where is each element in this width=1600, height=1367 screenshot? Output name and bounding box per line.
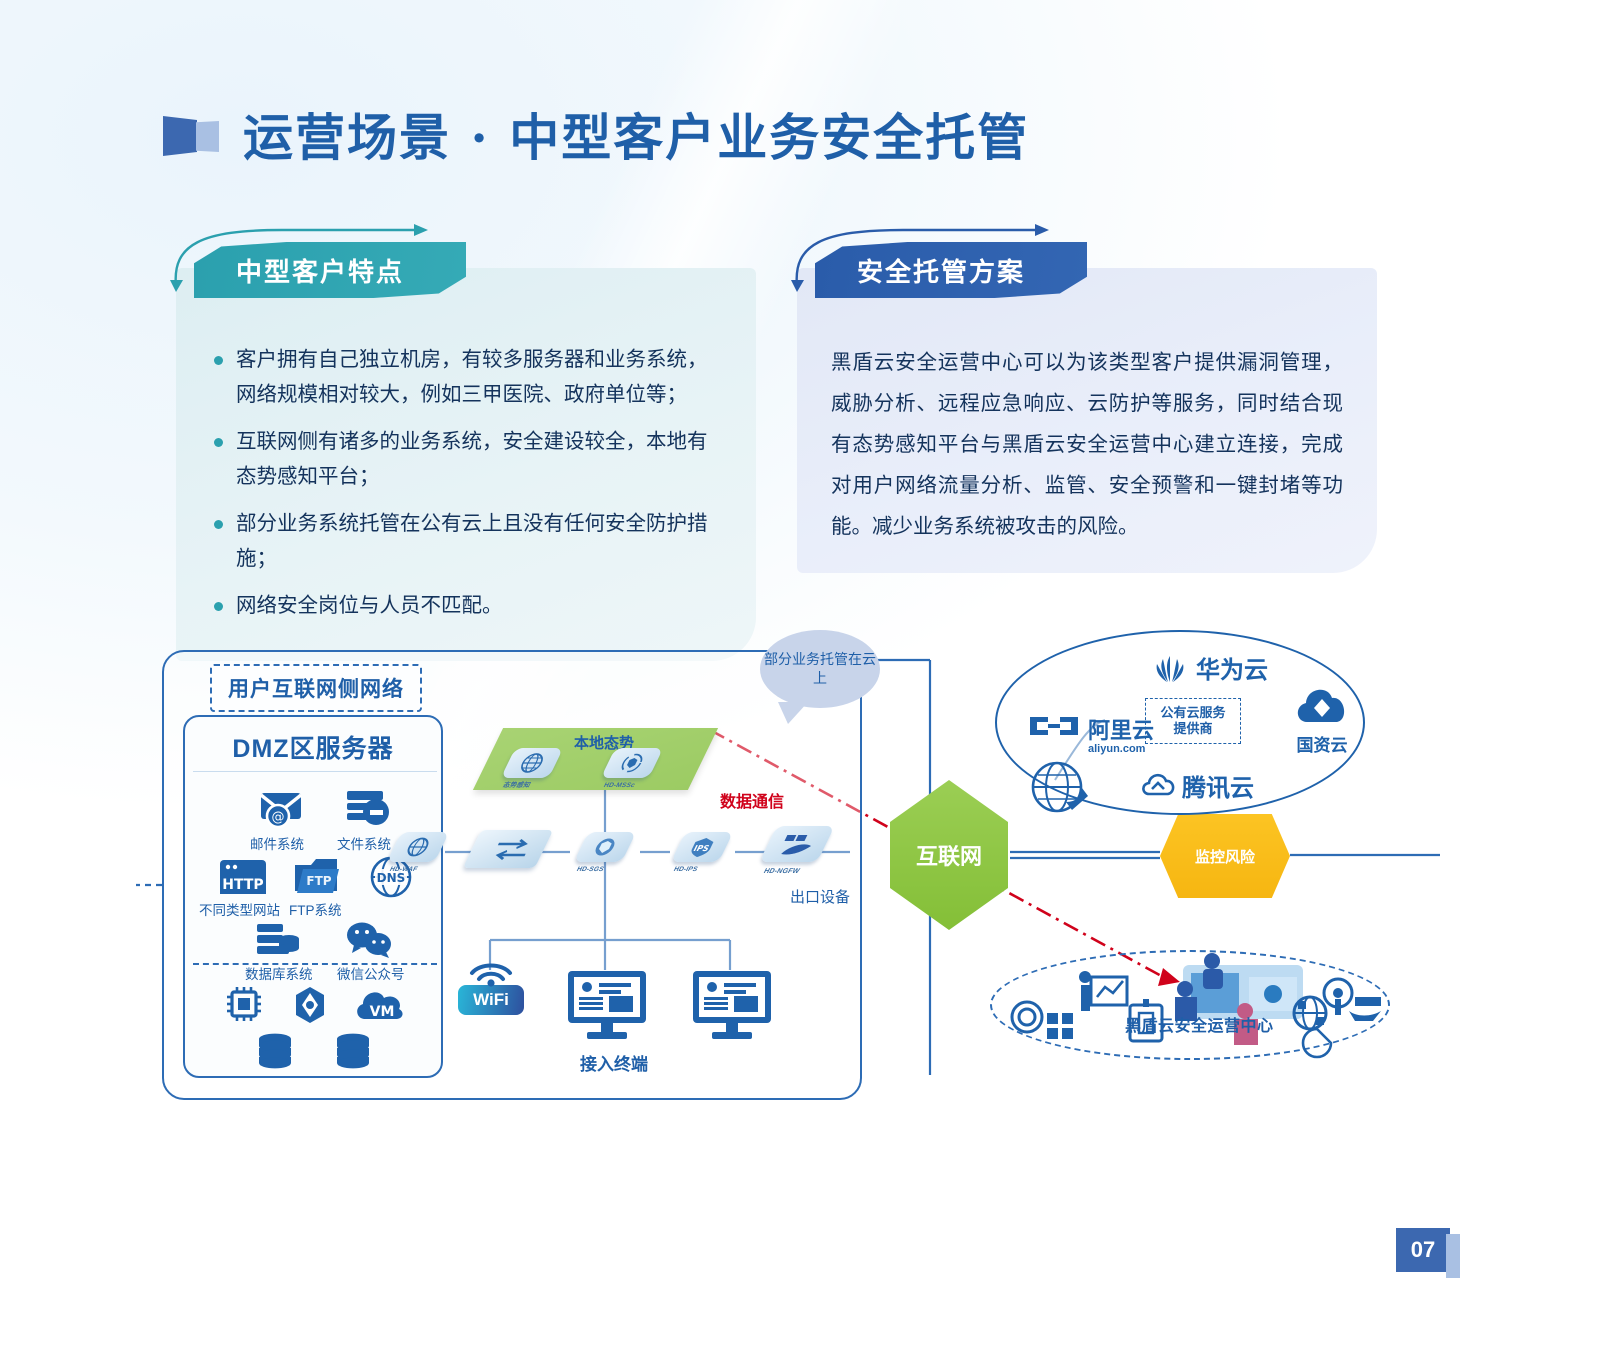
svg-text:DNS: DNS xyxy=(377,871,406,885)
flag-icon xyxy=(163,112,219,156)
tencent-cloud-icon xyxy=(1140,772,1176,800)
list-item: 互联网侧有诸多的业务系统，安全建设较全，本地有态势感知平台； xyxy=(210,424,722,494)
solution-paragraph: 黑盾云安全运营中心可以为该类型客户提供漏洞管理，威胁分析、远程应急响应、云防护等… xyxy=(831,342,1343,547)
vm-cloud-icon: VM xyxy=(353,985,407,1025)
wifi-label: WiFi xyxy=(473,990,509,1010)
ips-icon: IPS xyxy=(684,836,721,858)
globe-arrow-icon xyxy=(1028,758,1090,820)
guoziyun-cloud-icon xyxy=(1292,682,1352,728)
cloud-tag-line1: 公有云服务 xyxy=(1160,705,1225,721)
exit-device-label: 出口设备 xyxy=(790,886,850,907)
mail-icon: @ xyxy=(257,789,305,829)
provider-guoziyun: 国资云 xyxy=(1292,682,1352,756)
ftp-folder-icon: FTP xyxy=(291,855,343,897)
caption-wechat: 微信公众号 xyxy=(337,963,405,983)
page-title: 运营场景 · 中型客户业务安全托管 xyxy=(243,98,1029,170)
wechat-icon xyxy=(345,920,393,958)
caption-file: 文件系统 xyxy=(337,833,391,853)
device-hd-ips[interactable]: IPS HD-IPS xyxy=(672,832,732,872)
page-number-badge: 07 xyxy=(1396,1228,1450,1272)
db-stack-icon xyxy=(333,1033,373,1069)
http-icon: HTTP xyxy=(217,857,269,897)
firewall-icon xyxy=(774,832,820,856)
desktop-monitor-icon xyxy=(565,968,649,1042)
managed-security-panel: 安全托管方案 黑盾云安全运营中心可以为该类型客户提供漏洞管理，威胁分析、远程应急… xyxy=(797,268,1377,573)
device-label: HD-MSSc xyxy=(602,782,636,789)
cluster-icon xyxy=(290,985,330,1025)
device-hd-sgs[interactable]: HD-SGS xyxy=(575,832,635,872)
device-label: HD-IPS xyxy=(672,866,699,873)
soc-scene xyxy=(1005,955,1375,1060)
public-cloud-tag: 公有云服务 提供商 xyxy=(1145,698,1241,744)
wifi-badge: WiFi xyxy=(458,985,524,1015)
cloud-hosting-bubble: 部分业务托管在云上 xyxy=(760,630,880,708)
monitor-risk-hexagon: 监控风险 xyxy=(1160,814,1290,898)
svg-text:IPS: IPS xyxy=(692,843,711,852)
switch-arrows-icon xyxy=(486,837,538,861)
svg-text:@: @ xyxy=(272,810,285,825)
device-hd-waf[interactable]: HD-WAF xyxy=(388,832,448,872)
cpu-chip-icon xyxy=(223,983,265,1025)
customer-traits-panel: 中型客户特点 客户拥有自己独立机房，有较多服务器和业务系统，网络规模相对较大，例… xyxy=(176,268,756,661)
db-stack-icon xyxy=(255,1033,295,1069)
device-label: 态势感知 xyxy=(502,779,534,789)
core-switch[interactable] xyxy=(472,826,550,874)
cloud-tag-line2: 提供商 xyxy=(1160,721,1225,737)
device-hd-ngfw[interactable]: HD-NGFW xyxy=(762,826,838,874)
brain-globe-icon xyxy=(514,752,551,774)
caption-db: 数据库系统 xyxy=(245,963,313,983)
device-hd-mssc[interactable]: HD-MSSc xyxy=(602,748,662,788)
panel-body-left: 客户拥有自己独立机房，有较多服务器和业务系统，网络规模相对较大，例如三甲医院、政… xyxy=(176,268,756,661)
dmz-title: DMZ区服务器 xyxy=(185,729,441,765)
page-header: 运营场景 · 中型客户业务安全托管 xyxy=(163,98,1029,170)
provider-name: 华为云 xyxy=(1196,650,1268,685)
device-label: HD-SGS xyxy=(575,866,605,873)
shield-cycle-icon xyxy=(615,752,650,774)
huawei-cloud-icon xyxy=(1150,652,1190,684)
device-label: HD-NGFW xyxy=(762,868,801,875)
list-item: 部分业务系统托管在公有云上且没有任何安全防护措施； xyxy=(210,506,722,576)
terminal-caption: 接入终端 xyxy=(580,1050,648,1075)
provider-huawei: 华为云 xyxy=(1150,650,1268,685)
desktop-monitor-icon xyxy=(690,968,774,1042)
caption-http: 不同类型网站 xyxy=(199,899,280,919)
provider-domain: aliyun.com xyxy=(1088,743,1154,755)
wifi-signal-icon xyxy=(466,957,516,985)
page-number: 07 xyxy=(1411,1237,1435,1263)
architecture-diagram: 用户互联网侧网络 DMZ区服务器 @ 邮件系统 文件系统 HTTP 不同类型 xyxy=(150,620,1440,1140)
svg-text:FTP: FTP xyxy=(306,874,331,888)
panel-tab-left: 中型客户特点 xyxy=(194,242,466,298)
provider-aliyun: 阿里云 aliyun.com xyxy=(1026,713,1154,755)
aliyun-icon xyxy=(1026,713,1082,739)
device-situation-awareness[interactable]: 态势感知 xyxy=(502,748,562,788)
internet-label: 互联网 xyxy=(916,839,982,871)
database-rack-icon xyxy=(255,922,301,958)
svg-text:HTTP: HTTP xyxy=(222,877,263,893)
svg-text:VM: VM xyxy=(370,1004,395,1020)
dmz-server-box: DMZ区服务器 @ 邮件系统 文件系统 HTTP 不同类型网站 xyxy=(183,715,443,1078)
provider-name: 国资云 xyxy=(1292,731,1352,756)
sgs-shield-icon xyxy=(588,836,623,858)
file-server-icon xyxy=(343,789,391,827)
panel-body-right: 黑盾云安全运营中心可以为该类型客户提供漏洞管理，威胁分析、远程应急响应、云防护等… xyxy=(797,268,1377,573)
monitor-risk-label: 监控风险 xyxy=(1195,846,1255,867)
list-item: 网络安全岗位与人员不匹配。 xyxy=(210,588,722,623)
provider-tencent: 腾讯云 xyxy=(1140,768,1254,803)
provider-name: 阿里云 xyxy=(1088,713,1154,745)
data-comm-label: 数据通信 xyxy=(720,788,784,812)
caption-ftp: FTP系统 xyxy=(289,899,342,919)
panel-tab-right: 安全托管方案 xyxy=(815,242,1087,298)
globe-icon xyxy=(401,836,436,858)
device-label: HD-WAF xyxy=(388,866,419,873)
soc-title: 黑盾云安全运营中心 xyxy=(1125,1012,1274,1036)
customer-traits-list: 客户拥有自己独立机房，有较多服务器和业务系统，网络规模相对较大，例如三甲医院、政… xyxy=(210,342,722,623)
provider-name: 腾讯云 xyxy=(1182,768,1254,803)
caption-mail: 邮件系统 xyxy=(250,833,304,853)
list-item: 客户拥有自己独立机房，有较多服务器和业务系统，网络规模相对较大，例如三甲医院、政… xyxy=(210,342,722,412)
user-network-title: 用户互联网侧网络 xyxy=(210,664,422,712)
